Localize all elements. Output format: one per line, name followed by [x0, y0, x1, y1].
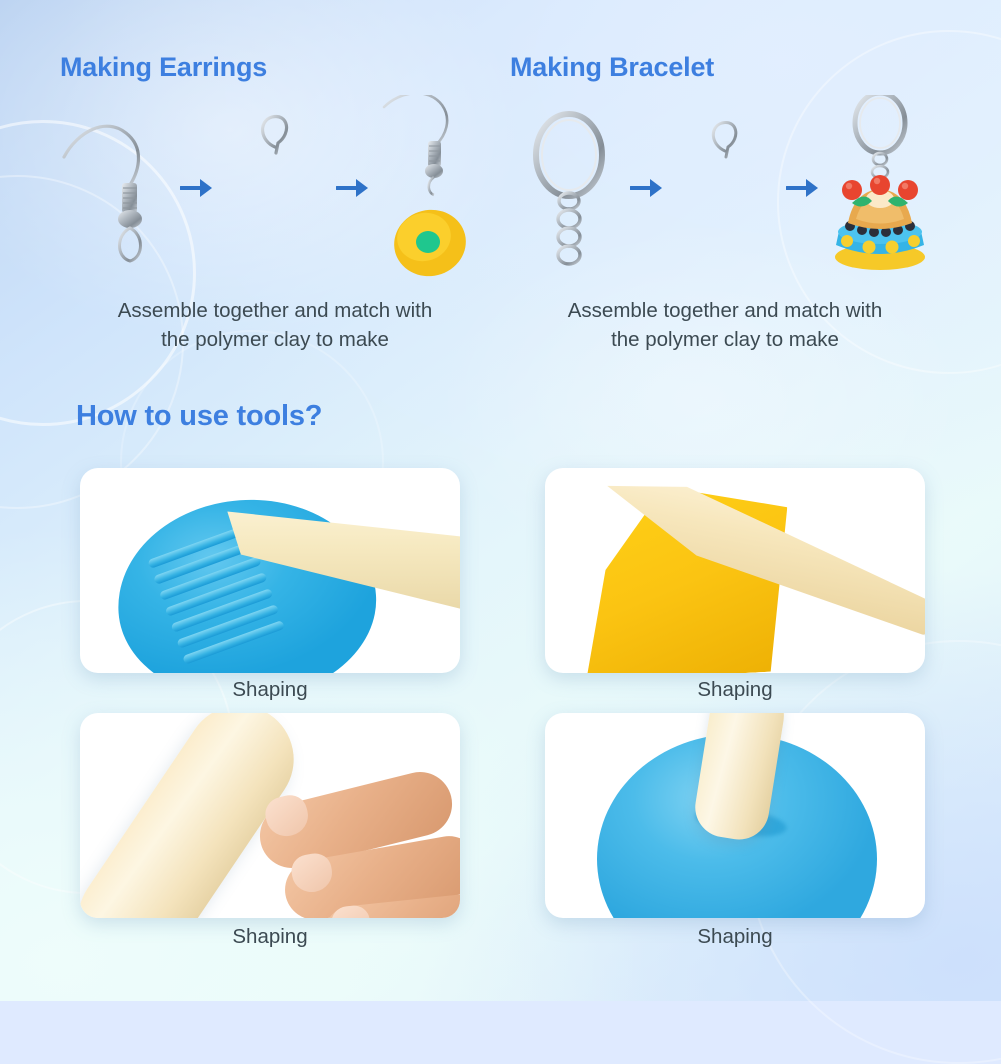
step-arrow-1	[178, 95, 216, 280]
tool-photo-hand-rolling-clay	[80, 713, 460, 918]
hand	[228, 744, 460, 918]
making-bracelet-title: Making Bracelet	[510, 52, 714, 83]
tool-card-label: Shaping	[545, 925, 925, 949]
arrow-right-icon	[180, 177, 214, 199]
tool-photo-comb-on-blue-clay	[80, 468, 460, 673]
eye-pin-icon	[666, 95, 784, 280]
tool-card-shaping-roller[interactable]	[80, 713, 460, 918]
step-arrow-3	[628, 95, 666, 280]
eye-pin-step	[666, 95, 784, 280]
bracelet-caption: Assemble together and match with the pol…	[510, 296, 940, 354]
bracelet-caption-line1: Assemble together and match with	[510, 296, 940, 325]
making-earrings-title: Making Earrings	[60, 52, 267, 83]
earrings-caption-line1: Assemble together and match with	[60, 296, 490, 325]
finished-keychain-step	[822, 95, 940, 280]
bracelet-assembly-row	[510, 95, 940, 280]
finished-earring-step	[372, 95, 490, 280]
bracelet-caption-line2: the polymer clay to make	[510, 325, 940, 354]
eye-pin-icon	[216, 95, 334, 280]
arrow-right-icon	[786, 177, 820, 199]
earrings-caption: Assemble together and match with the pol…	[60, 296, 490, 354]
tool-card-label: Shaping	[80, 678, 460, 702]
arrow-right-icon	[630, 177, 664, 199]
step-arrow-4	[784, 95, 822, 280]
keyring-icon	[510, 95, 628, 280]
tool-card-label: Shaping	[545, 678, 925, 702]
earring-hook-icon	[60, 95, 178, 280]
how-to-use-tools-title: How to use tools?	[76, 400, 322, 433]
tool-card-shaping-spatula[interactable]	[545, 713, 925, 918]
clay-earring-icon	[372, 95, 490, 280]
step-arrow-2	[334, 95, 372, 280]
tool-photo-spatula-on-blue-dome	[545, 713, 925, 918]
earrings-caption-line2: the polymer clay to make	[60, 325, 490, 354]
tool-card-shaping-blade[interactable]	[545, 468, 925, 673]
tool-card-shaping-comb[interactable]	[80, 468, 460, 673]
arrow-right-icon	[336, 177, 370, 199]
tool-photo-blade-on-yellow-clay	[545, 468, 925, 673]
eye-pin-step	[216, 95, 334, 280]
earrings-assembly-row	[60, 95, 490, 280]
earring-hook-step	[60, 95, 178, 280]
keyring-step	[510, 95, 628, 280]
tool-card-label: Shaping	[80, 925, 460, 949]
clay-cake-keychain-icon	[822, 95, 940, 280]
